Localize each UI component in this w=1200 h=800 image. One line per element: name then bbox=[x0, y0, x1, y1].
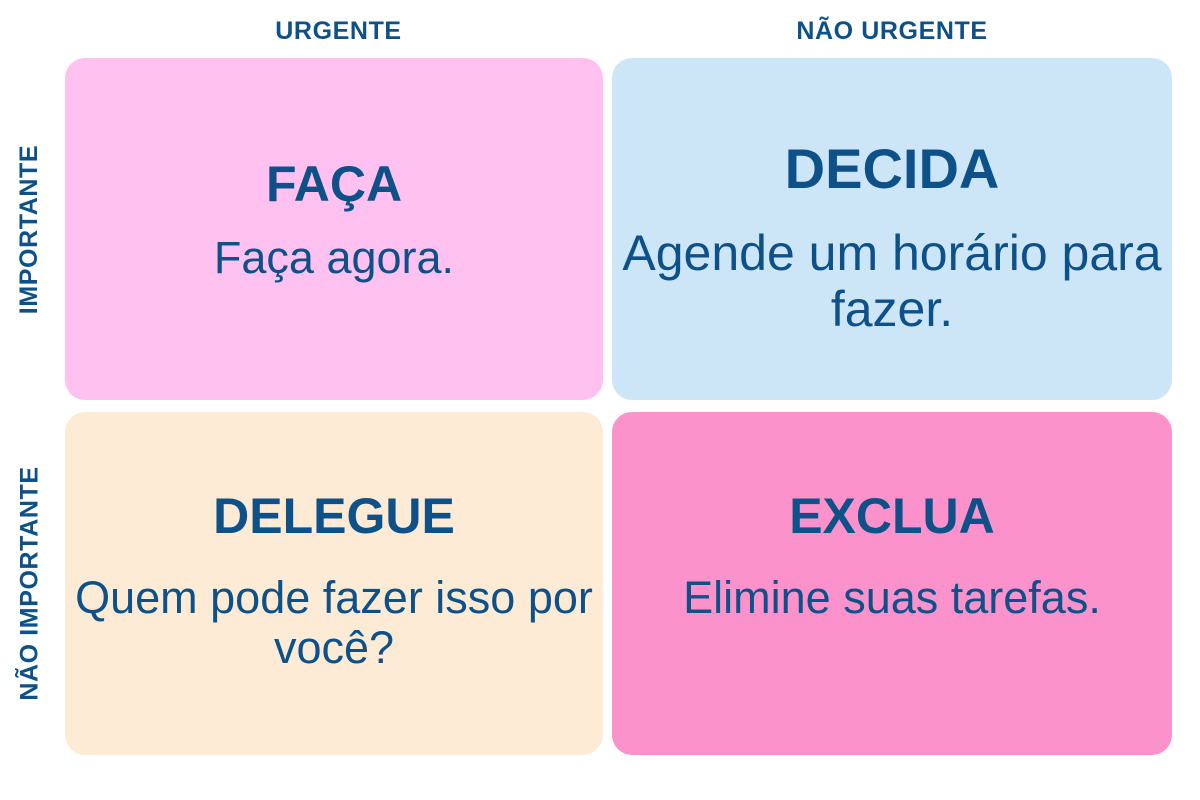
quadrant-card-exclua[interactable]: EXCLUA Elimine suas tarefas. bbox=[612, 412, 1172, 755]
column-header-row: URGENTE NÃO URGENTE bbox=[65, 14, 1172, 48]
quadrant-description-faca: Faça agora. bbox=[214, 211, 454, 283]
column-header-urgente: URGENTE bbox=[65, 14, 612, 48]
eisenhower-matrix: URGENTE NÃO URGENTE IMPORTANTE NÃO IMPOR… bbox=[0, 0, 1200, 800]
quadrant-description-exclua: Elimine suas tarefas. bbox=[683, 543, 1101, 623]
quadrant-description-delegue: Quem pode fazer isso por você? bbox=[65, 543, 603, 674]
quadrant-card-delegue[interactable]: DELEGUE Quem pode fazer isso por você? bbox=[65, 412, 603, 755]
column-header-nao-urgente-label: NÃO URGENTE bbox=[796, 19, 987, 44]
row-label-importante: IMPORTANTE bbox=[0, 58, 60, 400]
column-header-nao-urgente: NÃO URGENTE bbox=[612, 14, 1172, 48]
quadrant-card-decida[interactable]: DECIDA Agende um horário para fazer. bbox=[612, 58, 1172, 400]
quadrant-title-decida: DECIDA bbox=[785, 58, 1000, 199]
row-label-nao-importante-label: NÃO IMPORTANTE bbox=[16, 466, 45, 700]
quadrant-title-exclua: EXCLUA bbox=[789, 412, 995, 543]
quadrant-card-faca[interactable]: FAÇA Faça agora. bbox=[65, 58, 603, 400]
quadrant-grid: FAÇA Faça agora. DECIDA Agende um horári… bbox=[65, 58, 1172, 755]
quadrant-description-decida: Agende um horário para fazer. bbox=[612, 199, 1172, 337]
quadrant-title-delegue: DELEGUE bbox=[213, 412, 455, 543]
row-label-importante-label: IMPORTANTE bbox=[16, 144, 45, 313]
column-header-urgente-label: URGENTE bbox=[275, 19, 401, 44]
row-label-nao-importante: NÃO IMPORTANTE bbox=[0, 412, 60, 755]
quadrant-title-faca: FAÇA bbox=[266, 58, 402, 211]
